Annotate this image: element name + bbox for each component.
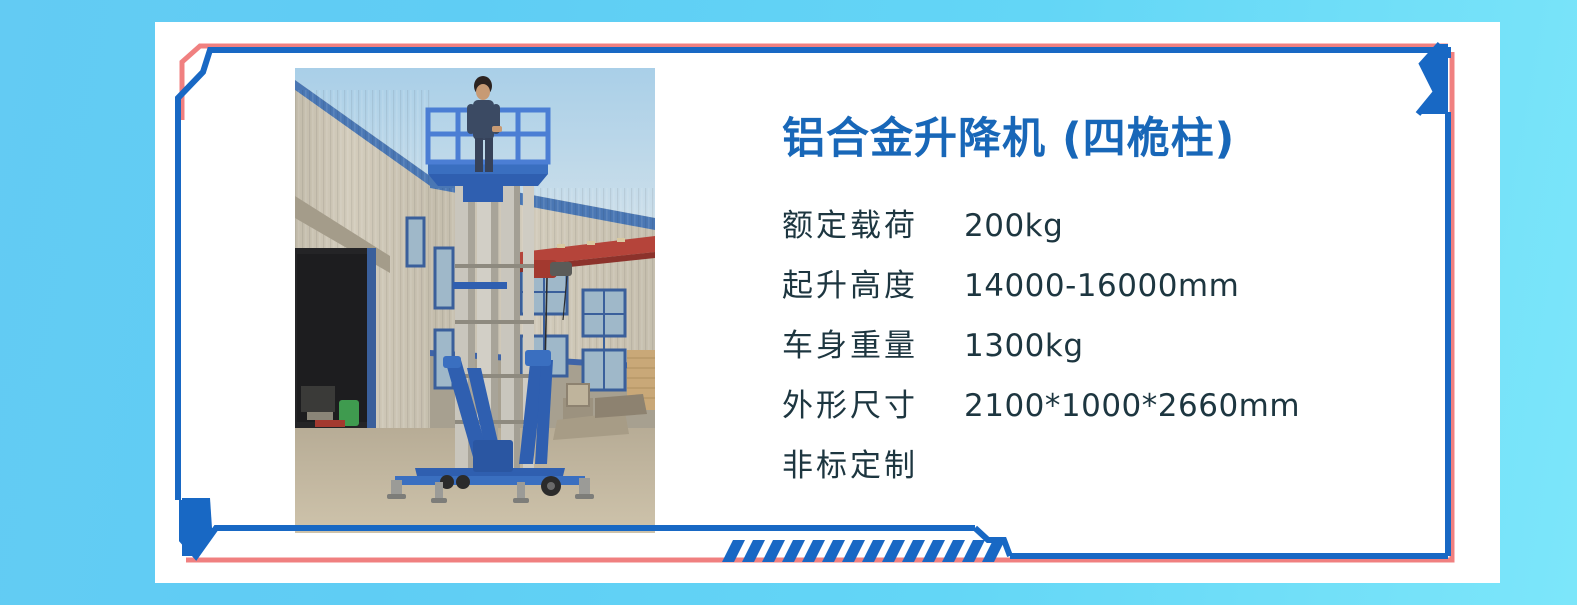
spec-label: 外形尺寸 (782, 380, 954, 425)
spec-label: 非标定制 (782, 440, 918, 485)
spec-label: 车身重量 (782, 320, 954, 365)
spec-row-lifting-height: 起升高度 14000-16000mm (782, 260, 1402, 305)
spec-value: 2100*1000*2660mm (964, 388, 1300, 424)
spec-label: 起升高度 (782, 260, 954, 305)
product-title: 铝合金升降机 (四桅柱) (782, 104, 1402, 166)
spec-value: 200kg (964, 208, 1063, 244)
product-info: 铝合金升降机 (四桅柱) 额定载荷 200kg 起升高度 14000-16000… (782, 104, 1402, 500)
spec-row-dimensions: 外形尺寸 2100*1000*2660mm (782, 380, 1402, 425)
spec-row-custom-made: 非标定制 (782, 440, 1402, 485)
spec-label: 额定载荷 (782, 200, 954, 245)
spec-row-rated-load: 额定载荷 200kg (782, 200, 1402, 245)
spec-value: 14000-16000mm (964, 268, 1239, 304)
spec-value: 1300kg (964, 328, 1084, 364)
product-photo (295, 68, 655, 533)
spec-row-body-weight: 车身重量 1300kg (782, 320, 1402, 365)
product-photo-illustration (295, 68, 655, 533)
